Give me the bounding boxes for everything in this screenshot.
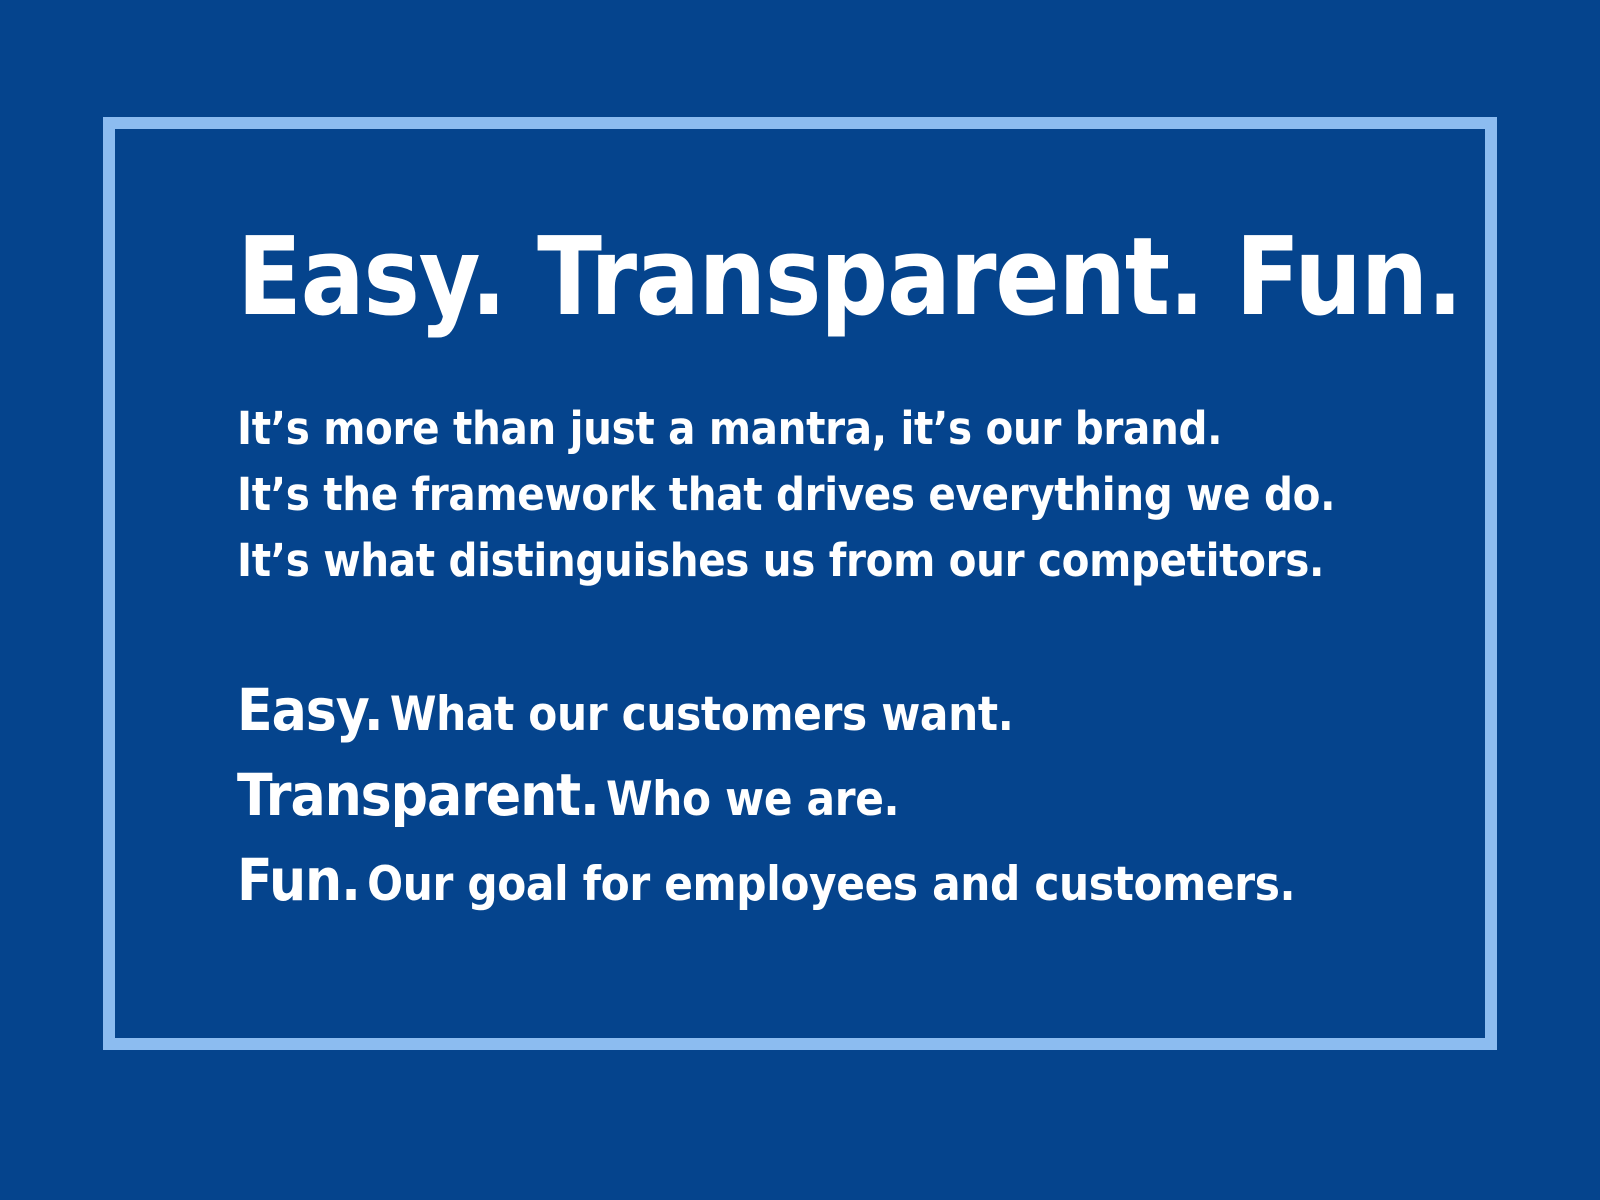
intro-line-2: It’s the framework that drives everythin…: [237, 462, 1299, 528]
pillar-item-easy: Easy.What our customers want.: [237, 670, 1299, 755]
pillars-list: Easy.What our customers want. Transparen…: [237, 670, 1417, 925]
pillar-item-transparent: Transparent.Who we are.: [237, 755, 1299, 840]
pillar-description-easy: What our customers want.: [390, 687, 1014, 742]
slide-content: Easy. Transparent. Fun. It’s more than j…: [237, 222, 1417, 925]
pillar-lead-easy: Easy.: [237, 676, 390, 744]
pillar-lead-transparent: Transparent.: [237, 761, 606, 829]
intro-paragraph: It’s more than just a mantra, it’s our b…: [237, 396, 1417, 594]
page-title: Easy. Transparent. Fun.: [237, 222, 1275, 334]
pillar-lead-fun: Fun.: [237, 846, 367, 914]
intro-line-1: It’s more than just a mantra, it’s our b…: [237, 396, 1299, 462]
pillar-description-fun: Our goal for employees and customers.: [367, 857, 1295, 912]
intro-line-3: It’s what distinguishes us from our comp…: [237, 528, 1299, 594]
brand-mantra-slide: Easy. Transparent. Fun. It’s more than j…: [0, 0, 1600, 1200]
pillar-description-transparent: Who we are.: [606, 772, 899, 827]
pillar-item-fun: Fun.Our goal for employees and customers…: [237, 840, 1299, 925]
